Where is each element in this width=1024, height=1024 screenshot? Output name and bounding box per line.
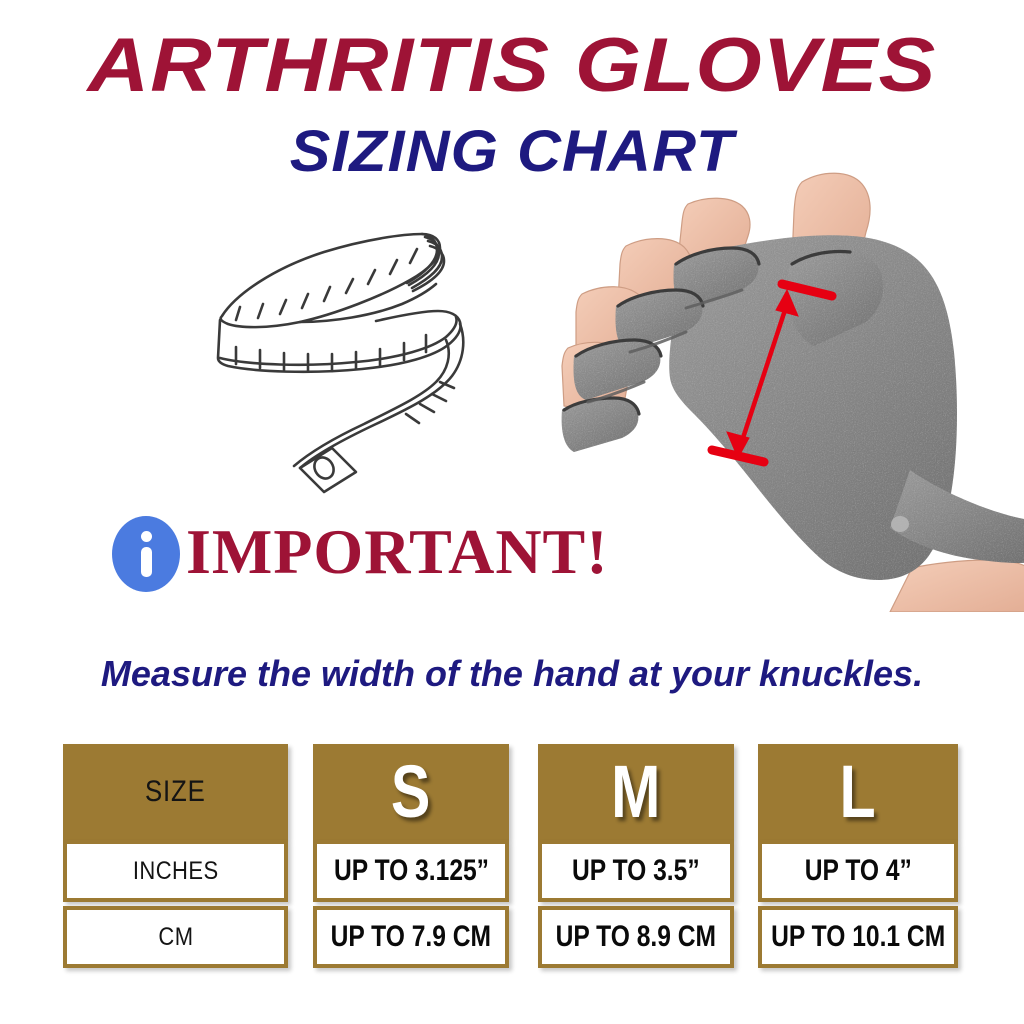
medium-cm-value: UP TO 8.9 CM bbox=[556, 920, 716, 954]
sizing-table: SIZE INCHES CM S UP TO 3.125” UP TO 7.9 … bbox=[0, 744, 1024, 980]
size-letter-medium: M bbox=[611, 755, 660, 829]
important-notice: IMPORTANT! bbox=[0, 506, 1024, 598]
table-column-small: S UP TO 3.125” UP TO 7.9 CM bbox=[313, 744, 509, 968]
measuring-tape-icon bbox=[196, 228, 516, 496]
info-i-stem bbox=[141, 547, 152, 577]
table-header-size-label: SIZE bbox=[145, 775, 206, 809]
cell-medium-cm: UP TO 8.9 CM bbox=[538, 906, 734, 968]
medium-inches-value: UP TO 3.5” bbox=[572, 854, 700, 888]
table-column-large: L UP TO 4” UP TO 10.1 CM bbox=[758, 744, 958, 968]
table-row-inches-label: INCHES bbox=[63, 840, 288, 902]
large-cm-value: UP TO 10.1 CM bbox=[771, 920, 945, 954]
cell-small-inches: UP TO 3.125” bbox=[313, 840, 509, 902]
table-header-size: SIZE bbox=[63, 744, 288, 840]
table-column-medium: M UP TO 3.5” UP TO 8.9 CM bbox=[538, 744, 734, 968]
table-header-large: L bbox=[758, 744, 958, 840]
cm-row-label: CM bbox=[158, 923, 193, 952]
large-inches-value: UP TO 4” bbox=[804, 854, 911, 888]
size-letter-large: L bbox=[840, 755, 876, 829]
cell-medium-inches: UP TO 3.5” bbox=[538, 840, 734, 902]
important-label: IMPORTANT! bbox=[186, 517, 609, 587]
table-header-medium: M bbox=[538, 744, 734, 840]
cell-small-cm: UP TO 7.9 CM bbox=[313, 906, 509, 968]
info-i-dot bbox=[141, 531, 152, 542]
table-header-small: S bbox=[313, 744, 509, 840]
table-row-cm-label: CM bbox=[63, 906, 288, 968]
instruction-text: Measure the width of the hand at your kn… bbox=[0, 652, 1024, 696]
sizing-chart-page: ARTHRITIS GLOVES SIZING CHART bbox=[0, 0, 1024, 1024]
cell-large-inches: UP TO 4” bbox=[758, 840, 958, 902]
inches-row-label: INCHES bbox=[133, 857, 219, 886]
page-title: ARTHRITIS GLOVES bbox=[0, 26, 1024, 106]
small-inches-value: UP TO 3.125” bbox=[334, 854, 489, 888]
small-cm-value: UP TO 7.9 CM bbox=[331, 920, 491, 954]
info-circle-icon bbox=[112, 512, 180, 592]
table-column-labels: SIZE INCHES CM bbox=[63, 744, 288, 968]
cell-large-cm: UP TO 10.1 CM bbox=[758, 906, 958, 968]
size-letter-small: S bbox=[391, 755, 430, 829]
